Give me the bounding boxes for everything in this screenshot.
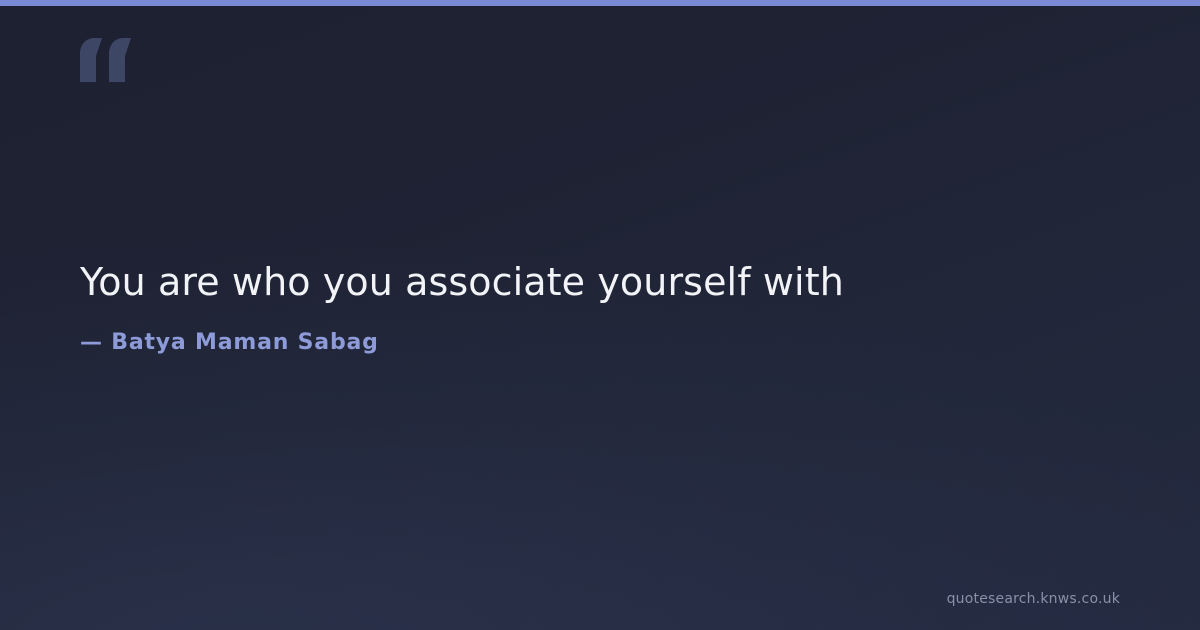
- quote-attribution: — Batya Maman Sabag: [80, 329, 1120, 357]
- site-url-footer: quotesearch.knws.co.uk: [947, 590, 1120, 608]
- double-quote-open-icon: [80, 38, 134, 82]
- quote-block: You are who you associate yourself with …: [80, 256, 1120, 357]
- card-content: You are who you associate yourself with …: [0, 0, 1200, 630]
- top-accent-bar: [0, 0, 1200, 6]
- quote-text: You are who you associate yourself with: [80, 256, 1120, 308]
- quote-card: You are who you associate yourself with …: [0, 0, 1200, 630]
